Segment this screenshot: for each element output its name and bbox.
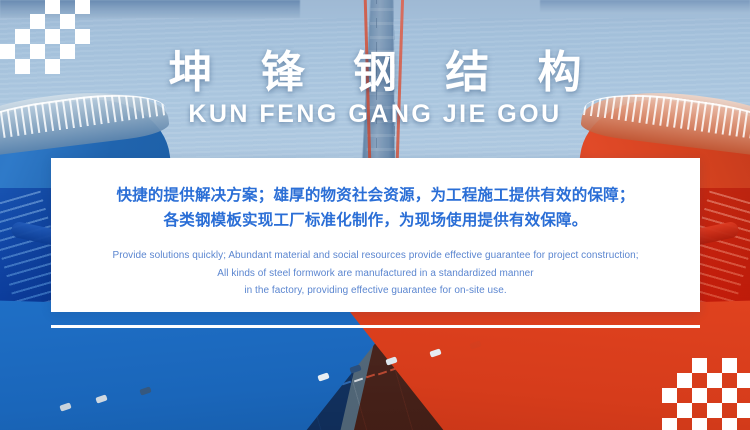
tagline-chinese-line-2: 各类钢模板实现工厂标准化制作，为现场使用提供有效保障。 xyxy=(77,208,674,233)
checker-square xyxy=(45,59,60,74)
tagline-english-line-1: Provide solutions quickly; Abundant mate… xyxy=(81,247,670,265)
cable-suspender xyxy=(394,78,395,88)
checker-square xyxy=(75,0,90,14)
tagline-english-line-3: in the factory, providing effective guar… xyxy=(81,282,670,300)
cable-suspender xyxy=(376,66,377,76)
cable-suspender xyxy=(376,0,377,4)
cable-suspender xyxy=(376,42,377,52)
checkerboard-top-left xyxy=(0,0,92,72)
cable-suspender xyxy=(376,114,377,124)
checker-square xyxy=(677,373,692,388)
checker-square xyxy=(15,59,30,74)
vehicle xyxy=(469,340,481,349)
vehicle xyxy=(95,394,107,403)
checker-square xyxy=(692,418,707,430)
vehicle xyxy=(429,348,441,357)
checker-square xyxy=(722,358,737,373)
checkerboard-bottom-right xyxy=(662,358,750,430)
checker-square xyxy=(677,403,692,418)
tagline-english: Provide solutions quickly; Abundant mate… xyxy=(81,247,670,300)
tagline-card: 快捷的提供解决方案；雄厚的物资社会资源，为工程施工提供有效的保障； 各类钢模板实… xyxy=(51,158,700,312)
white-divider-rule xyxy=(51,325,700,328)
vehicle xyxy=(385,356,397,365)
vehicle xyxy=(59,402,71,411)
checker-square xyxy=(692,358,707,373)
vehicle xyxy=(139,386,151,395)
checker-square xyxy=(662,388,677,403)
cable-suspender xyxy=(376,90,377,100)
checker-square xyxy=(737,403,750,418)
checker-square xyxy=(30,44,45,59)
checker-square xyxy=(692,388,707,403)
checker-square xyxy=(60,44,75,59)
checker-square xyxy=(722,418,737,430)
checker-square xyxy=(722,388,737,403)
checker-square xyxy=(15,29,30,44)
checker-square xyxy=(45,29,60,44)
checker-square xyxy=(75,29,90,44)
checker-square xyxy=(662,418,677,430)
checker-square xyxy=(707,403,722,418)
tagline-chinese-line-1: 快捷的提供解决方案；雄厚的物资社会资源，为工程施工提供有效的保障； xyxy=(77,183,674,208)
tagline-chinese: 快捷的提供解决方案；雄厚的物资社会资源，为工程施工提供有效的保障； 各类钢模板实… xyxy=(77,183,674,233)
vehicle xyxy=(349,364,361,373)
company-hero-banner: 坤 锋 钢 结 构 KUN FENG GANG JIE GOU 快捷的提供解决方… xyxy=(0,0,750,430)
vehicle xyxy=(317,372,329,381)
cable-suspender xyxy=(376,18,377,28)
cable-suspender xyxy=(376,138,377,148)
tagline-english-line-2: All kinds of steel formwork are manufact… xyxy=(81,265,670,283)
checker-square xyxy=(737,373,750,388)
checker-square xyxy=(0,44,15,59)
traffic-on-roadway xyxy=(0,330,750,430)
distant-shoreline-right xyxy=(540,0,750,14)
cable-suspender xyxy=(394,126,395,136)
checker-square xyxy=(45,0,60,14)
checker-square xyxy=(60,14,75,29)
cable-suspender xyxy=(394,102,395,112)
checker-square xyxy=(30,14,45,29)
checker-square xyxy=(707,373,722,388)
